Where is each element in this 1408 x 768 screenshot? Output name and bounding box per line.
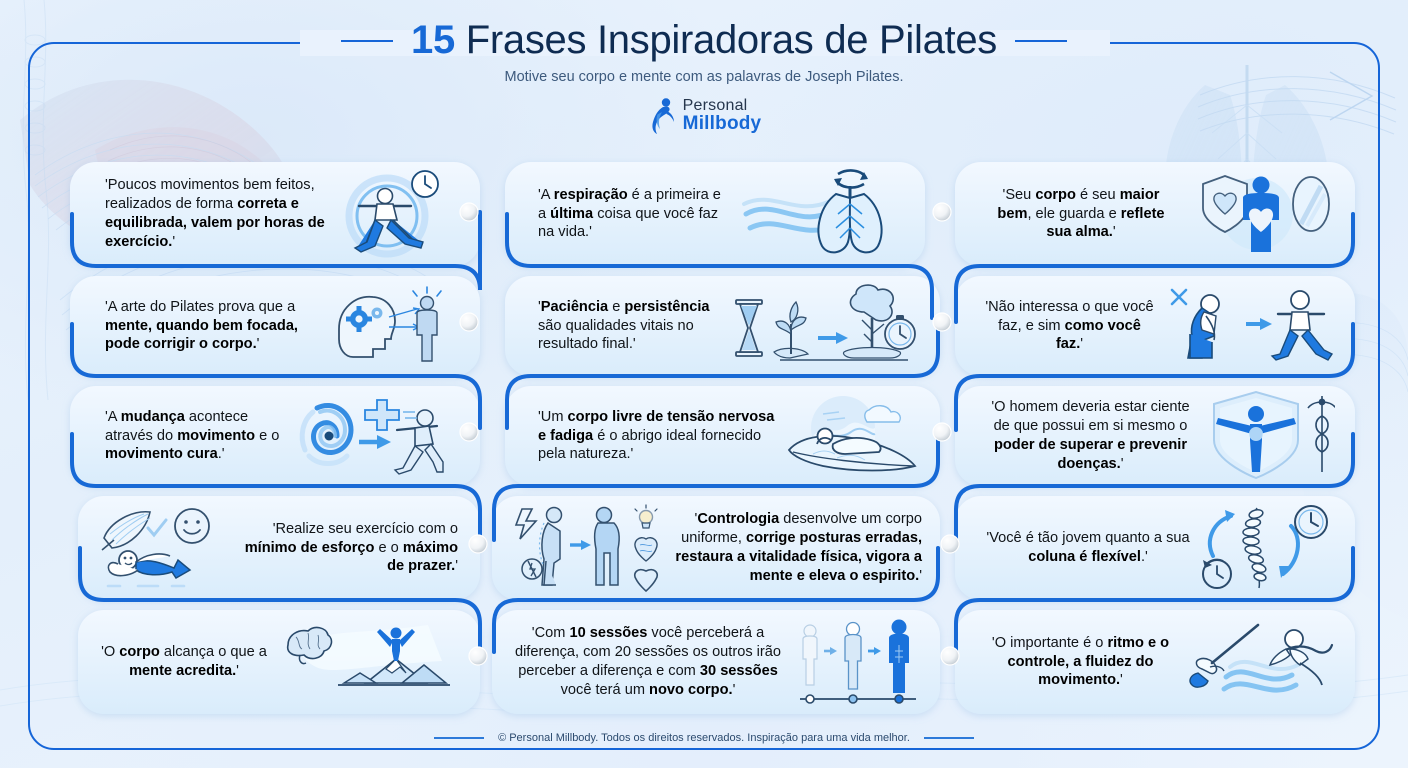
- quote-text-2: 'A respiração é a primeira e a última co…: [538, 186, 732, 243]
- quote-card-8[interactable]: 'Um corpo livre de tensão nervosa e fadi…: [528, 388, 928, 484]
- feather-smile-teaser-icon: [98, 502, 223, 594]
- hourglass-tree-growth-icon: [728, 282, 918, 370]
- spiral-movement-healing-icon: [297, 392, 445, 480]
- footer-rule-right: [924, 737, 974, 739]
- footer: © Personal Millbody. Todos os direitos r…: [0, 732, 1408, 744]
- quote-text-8: 'Um corpo livre de tensão nervosa e fadi…: [538, 408, 777, 465]
- warrior-pose-clock-icon: [335, 168, 445, 260]
- quote-text-3: 'Seu corpo é seu maior bem, ele guarda e…: [985, 186, 1177, 243]
- quote-text-11: 'Contrologia desenvolve um corpo uniform…: [672, 510, 922, 586]
- quote-cards-grid: 'Poucos movimentos bem feitos, realizado…: [0, 0, 1408, 768]
- quote-card-5[interactable]: 'Paciência e persistência são qualidades…: [528, 278, 928, 374]
- quote-card-10[interactable]: 'Realize seu exercício com o mínimo de e…: [88, 498, 468, 598]
- quote-card-15[interactable]: 'O importante é o ritmo e o controle, a …: [975, 612, 1345, 712]
- shield-body-caduceus-icon: [1200, 390, 1335, 482]
- conductor-baton-flowing-figure-icon: [1180, 617, 1335, 707]
- quote-card-14[interactable]: 'Com 10 sessões você perceberá a diferen…: [500, 612, 932, 712]
- quote-text-1: 'Poucos movimentos bem feitos, realizado…: [105, 176, 335, 252]
- quote-text-14: 'Com 10 sessões você perceberá a diferen…: [510, 624, 786, 700]
- quote-card-13[interactable]: 'O corpo alcança o que a mente acredita.…: [88, 612, 468, 712]
- quote-text-6: 'Não interessa o que você faz, e sim com…: [985, 298, 1154, 355]
- quote-text-5: 'Paciência e persistência são qualidades…: [538, 298, 718, 355]
- quote-text-12: 'Você é tão jovem quanto a sua coluna é …: [985, 529, 1191, 567]
- quote-text-9: 'O homem deveria estar ciente de que pos…: [985, 398, 1196, 474]
- quote-card-6[interactable]: 'Não interessa o que você faz, e sim com…: [975, 278, 1345, 374]
- lungs-breathing-icon: [738, 168, 908, 260]
- quote-text-13: 'O corpo alcança o que a mente acredita.…: [98, 643, 270, 681]
- quote-card-3[interactable]: 'Seu corpo é seu maior bem, ele guarda e…: [975, 164, 1345, 264]
- quote-card-9[interactable]: 'O homem deveria estar ciente de que pos…: [975, 386, 1345, 486]
- quote-card-1[interactable]: 'Poucos movimentos bem feitos, realizado…: [95, 164, 455, 264]
- brain-mountain-summit-icon: [278, 617, 458, 707]
- head-gears-body-icon: [333, 283, 445, 369]
- quote-text-7: 'A mudança acontece através do movimento…: [105, 408, 297, 465]
- resting-body-leaf-nature-icon: [783, 392, 918, 480]
- quote-card-11[interactable]: 'Contrologia desenvolve um corpo uniform…: [500, 498, 932, 598]
- quote-text-4: 'A arte do Pilates prova que a mente, qu…: [105, 298, 333, 355]
- quote-card-7[interactable]: 'A mudança acontece através do movimento…: [95, 388, 455, 484]
- quote-text-15: 'O importante é o ritmo e o controle, a …: [985, 634, 1176, 691]
- footer-text: © Personal Millbody. Todos os direitos r…: [498, 732, 910, 744]
- quote-card-2[interactable]: 'A respiração é a primeira e a última co…: [528, 164, 918, 264]
- body-shield-mirror-icon: [1185, 168, 1335, 260]
- bad-posture-to-good-posture-icon: [1160, 282, 1335, 370]
- mind-heart-symbols-icon: [626, 503, 666, 593]
- posture-transform-mind-heart-icon: [510, 501, 630, 595]
- footer-rule-left: [434, 737, 484, 739]
- quote-text-10: 'Realize seu exercício com o mínimo de e…: [233, 520, 458, 577]
- quote-card-12[interactable]: 'Você é tão jovem quanto a sua coluna é …: [975, 498, 1345, 598]
- three-bodies-progression-icon: [796, 619, 922, 705]
- quote-card-4[interactable]: 'A arte do Pilates prova que a mente, qu…: [95, 278, 455, 374]
- spine-flexibility-clock-icon: [1195, 502, 1335, 594]
